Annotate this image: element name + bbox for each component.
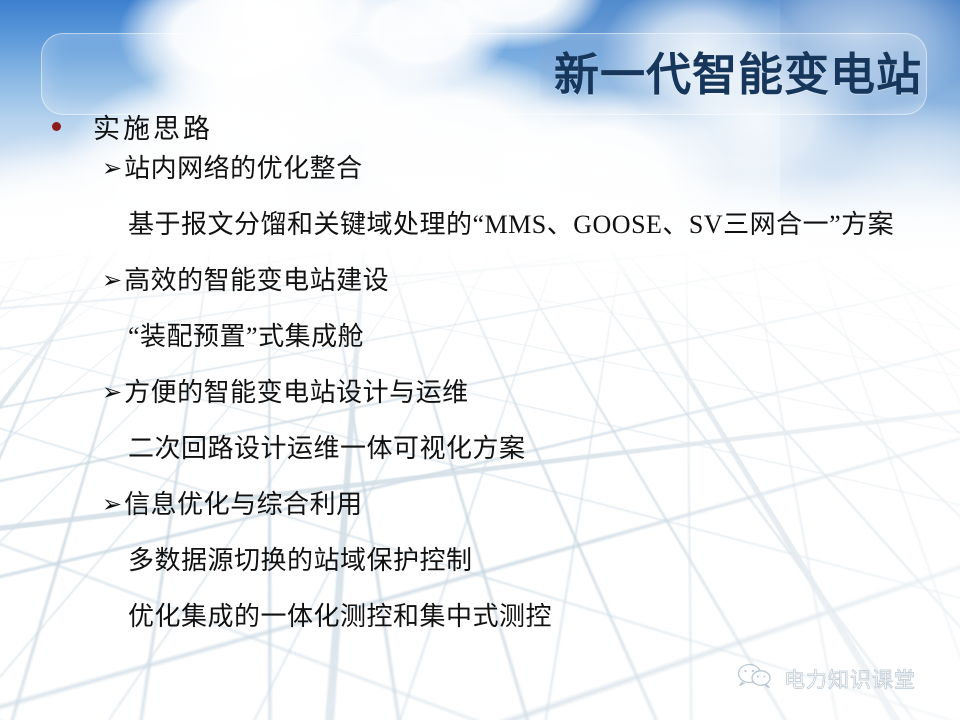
slide-canvas: 新一代智能变电站 实施思路 ➢ 站内网络的优化整合 基于报文分馏和关键域处理的“… [0,0,960,720]
list-item-label: 信息优化与综合利用 [124,484,363,521]
list-item-subline: 二次回路设计运维一体可视化方案 [0,428,960,484]
list-item-subline: 多数据源切换的站域保护控制 [0,540,960,596]
arrow-bullet-icon: ➢ [102,380,122,404]
list-item: ➢ 站内网络的优化整合 [0,148,960,204]
page-title: 新一代智能变电站 [554,38,922,103]
list-item-subline-text: 优化集成的一体化测控和集中式测控 [128,596,552,633]
main-bullet-label: 实施思路 [93,107,213,146]
list-item-subline: “装配预置”式集成舱 [0,316,960,372]
list-item-subline-text: 多数据源切换的站域保护控制 [128,540,473,577]
list-item-subline-text: “装配预置”式集成舱 [128,316,364,353]
list-item: ➢ 方便的智能变电站设计与运维 [0,372,960,428]
wechat-icon [735,662,775,695]
list-item-subline-text: 基于报文分馏和关键域处理的“MMS、GOOSE、SV三网合一”方案 [128,204,894,241]
round-bullet-icon [52,122,61,131]
list-item: ➢ 高效的智能变电站建设 [0,260,960,316]
list-item-label: 高效的智能变电站建设 [124,260,389,297]
slide-body: 实施思路 ➢ 站内网络的优化整合 基于报文分馏和关键域处理的“MMS、GOOSE… [0,104,960,652]
list-item: ➢ 信息优化与综合利用 [0,484,960,540]
list-item-subline-text: 二次回路设计运维一体可视化方案 [128,428,526,465]
arrow-bullet-icon: ➢ [102,492,122,516]
watermark-label: 电力知识课堂 [784,664,916,694]
list-item-label: 站内网络的优化整合 [124,148,363,185]
main-bullet-row: 实施思路 [0,104,960,148]
list-item-subline: 基于报文分馏和关键域处理的“MMS、GOOSE、SV三网合一”方案 [0,204,960,260]
arrow-bullet-icon: ➢ [102,156,122,180]
list-item-subline: 优化集成的一体化测控和集中式测控 [0,596,960,652]
list-item-label: 方便的智能变电站设计与运维 [124,372,469,409]
arrow-bullet-icon: ➢ [102,268,122,292]
watermark: 电力知识课堂 [735,662,916,695]
